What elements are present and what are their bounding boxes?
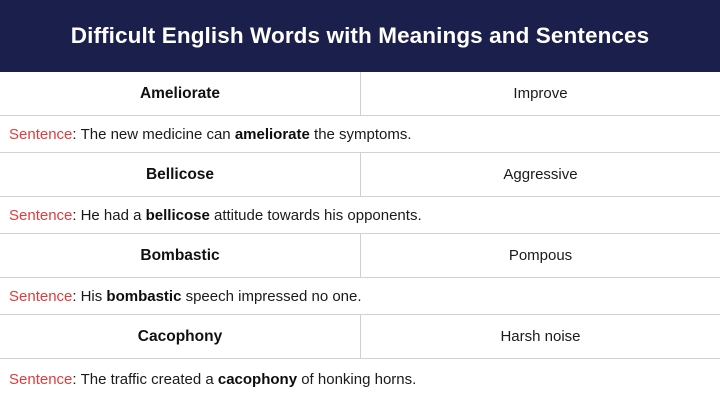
meaning-cell: Aggressive <box>361 153 720 196</box>
table-row: Cacophony Harsh noise <box>0 315 720 359</box>
sentence-colon: : <box>72 126 76 143</box>
word-cell: Ameliorate <box>0 72 361 115</box>
sentence-text: He had a bellicose attitude towards his … <box>81 207 422 224</box>
sentence-label: Sentence <box>9 126 72 143</box>
sentence-colon: : <box>72 207 76 224</box>
meaning-cell: Improve <box>361 72 720 115</box>
sentence-row: Sentence:He had a bellicose attitude tow… <box>0 197 720 234</box>
sentence-label: Sentence <box>9 371 72 388</box>
word-cell: Bombastic <box>0 234 361 277</box>
sentence-colon: : <box>72 371 76 388</box>
meaning-cell: Harsh noise <box>361 315 720 358</box>
sentence-keyword: ameliorate <box>235 126 310 143</box>
sentence-row: Sentence:The traffic created a cacophony… <box>0 359 720 399</box>
sentence-row: Sentence:The new medicine can ameliorate… <box>0 116 720 153</box>
sentence-suffix: the symptoms. <box>310 126 412 143</box>
sentence-prefix: His <box>81 288 107 305</box>
page-root: Difficult English Words with Meanings an… <box>0 0 720 404</box>
sentence-prefix: He had a <box>81 207 146 224</box>
sentence-text: The new medicine can ameliorate the symp… <box>81 126 412 143</box>
meaning-cell: Pompous <box>361 234 720 277</box>
sentence-label: Sentence <box>9 288 72 305</box>
sentence-label: Sentence <box>9 207 72 224</box>
title-banner: Difficult English Words with Meanings an… <box>0 0 720 72</box>
table-row: Bellicose Aggressive <box>0 153 720 197</box>
sentence-suffix: attitude towards his opponents. <box>210 207 422 224</box>
table-row: Bombastic Pompous <box>0 234 720 278</box>
sentence-prefix: The traffic created a <box>81 371 218 388</box>
sentence-prefix: The new medicine can <box>81 126 235 143</box>
sentence-colon: : <box>72 288 76 305</box>
sentence-keyword: cacophony <box>218 371 297 388</box>
sentence-suffix: of honking horns. <box>297 371 416 388</box>
sentence-text: His bombastic speech impressed no one. <box>81 288 362 305</box>
sentence-keyword: bombastic <box>106 288 181 305</box>
table-row: Ameliorate Improve <box>0 72 720 116</box>
sentence-keyword: bellicose <box>146 207 210 224</box>
page-title: Difficult English Words with Meanings an… <box>71 24 650 49</box>
sentence-row: Sentence:His bombastic speech impressed … <box>0 278 720 315</box>
sentence-suffix: speech impressed no one. <box>181 288 361 305</box>
vocabulary-table: Ameliorate Improve Sentence:The new medi… <box>0 72 720 399</box>
word-cell: Bellicose <box>0 153 361 196</box>
sentence-text: The traffic created a cacophony of honki… <box>81 371 417 388</box>
word-cell: Cacophony <box>0 315 361 358</box>
